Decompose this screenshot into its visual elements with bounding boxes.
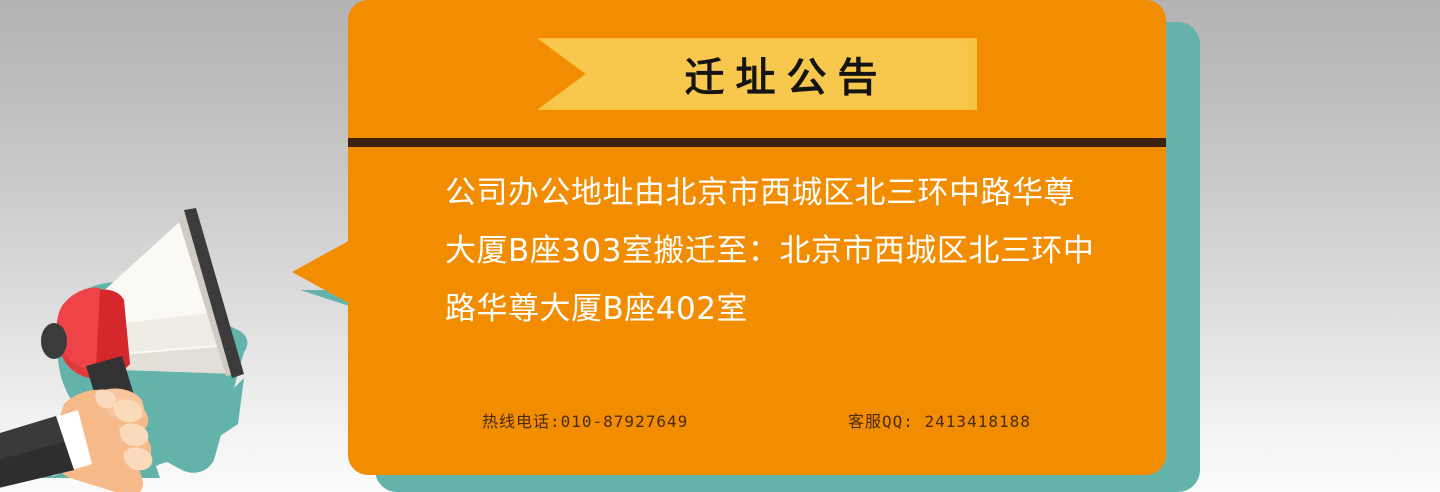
megaphone-back-nub [41,323,67,359]
megaphone-illustration [0,178,320,492]
announcement-card: 迁址公告 公司办公地址由北京市西城区北三环中路华尊大厦B座303室搬迁至：北京市… [348,0,1166,475]
contact-footer: 热线电话:010-87927649 客服QQ: 2413418188 [348,408,1166,438]
title-ribbon: 迁址公告 [537,35,977,113]
speech-bubble-tail [292,238,354,306]
hotline-phone: 热线电话:010-87927649 [482,408,688,432]
title-divider [348,138,1166,147]
announcement-body-text: 公司办公地址由北京市西城区北三环中路华尊大厦B座303室搬迁至：北京市西城区北三… [445,164,1105,338]
announcement-banner: 迁址公告 公司办公地址由北京市西城区北三环中路华尊大厦B座303室搬迁至：北京市… [0,0,1440,492]
page-title: 迁址公告 [537,35,977,113]
customer-service-qq: 客服QQ: 2413418188 [848,408,1031,432]
